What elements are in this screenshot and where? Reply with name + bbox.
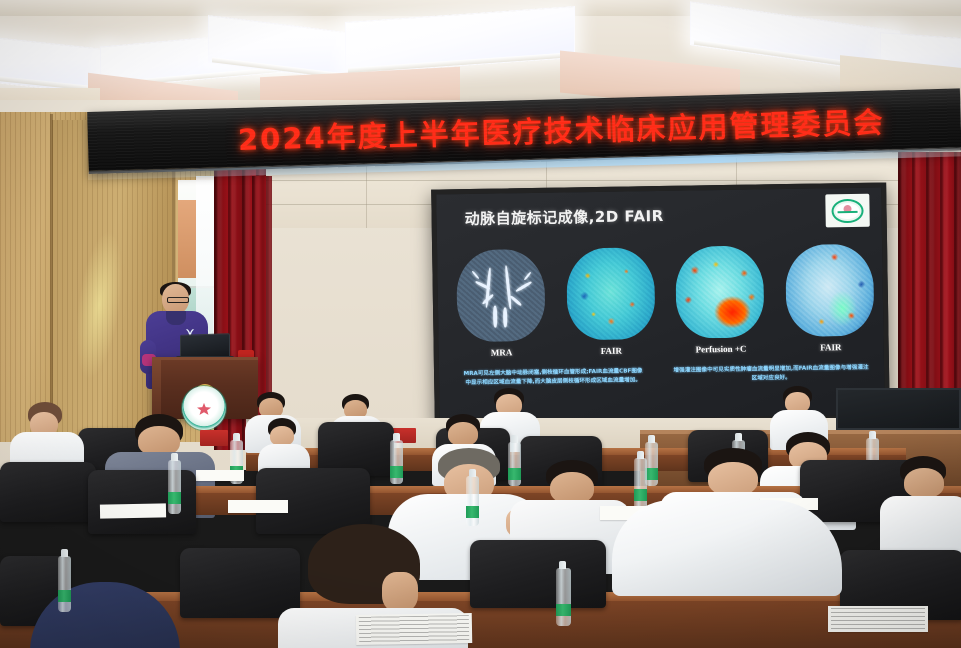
scan-label: MRA: [447, 347, 557, 359]
photo-scene: 2024年度上半年医疗技术临床应用管理委员会 动脉自旋标记成像,2D FAIR: [0, 0, 961, 648]
slide-caption-left: MRA可见左侧大脑中动脉闭塞,侧枝循环血管形成;FAIR血流量CBF图像中显示相…: [463, 367, 643, 387]
presenter-collar: [166, 311, 186, 325]
water-bottle: [556, 568, 571, 626]
brain-scan-image: [566, 247, 655, 340]
chair: [470, 540, 606, 608]
water-bottle: [58, 556, 71, 612]
water-bottle: [466, 476, 479, 526]
handout-paper: [828, 606, 928, 632]
scan-cell: FAIR: [555, 245, 666, 355]
scan-label: FAIR: [776, 341, 885, 353]
slide-caption-right: 增强灌注图像中可见实质性肿瘤血流量明显增加,而FAIR血流量图像与增强灌注区域对…: [671, 364, 871, 384]
scan-label: Perfusion +C: [666, 343, 776, 355]
audience-member: [30, 582, 180, 648]
brain-scan-image: [675, 245, 764, 338]
chair: [0, 462, 96, 522]
glasses-icon: [167, 297, 189, 303]
handout-paper: [356, 613, 473, 645]
secondary-display: [836, 388, 961, 430]
window-pane-warm: [178, 200, 196, 278]
handout-paper: [100, 503, 166, 518]
water-bottle: [168, 460, 181, 514]
handout-paper: [196, 470, 244, 481]
slide-title: 动脉自旋标记成像,2D FAIR: [464, 205, 663, 229]
handout-paper: [228, 500, 288, 513]
podium-side: [152, 360, 161, 419]
led-banner-text: 2024年度上半年医疗技术临床应用管理委员会: [237, 99, 885, 158]
scan-cell: MRA: [445, 247, 556, 357]
audience-member: [612, 500, 842, 610]
brain-scan-image: [785, 244, 874, 337]
scan-cell: Perfusion +C: [665, 243, 776, 353]
brain-scan-row: MRA FAIR Perfusion +C: [445, 241, 885, 356]
scan-cell: FAIR: [774, 241, 884, 351]
brain-scan-image: [456, 249, 545, 342]
scan-label: FAIR: [556, 345, 666, 357]
hospital-emblem-icon: [825, 194, 870, 228]
